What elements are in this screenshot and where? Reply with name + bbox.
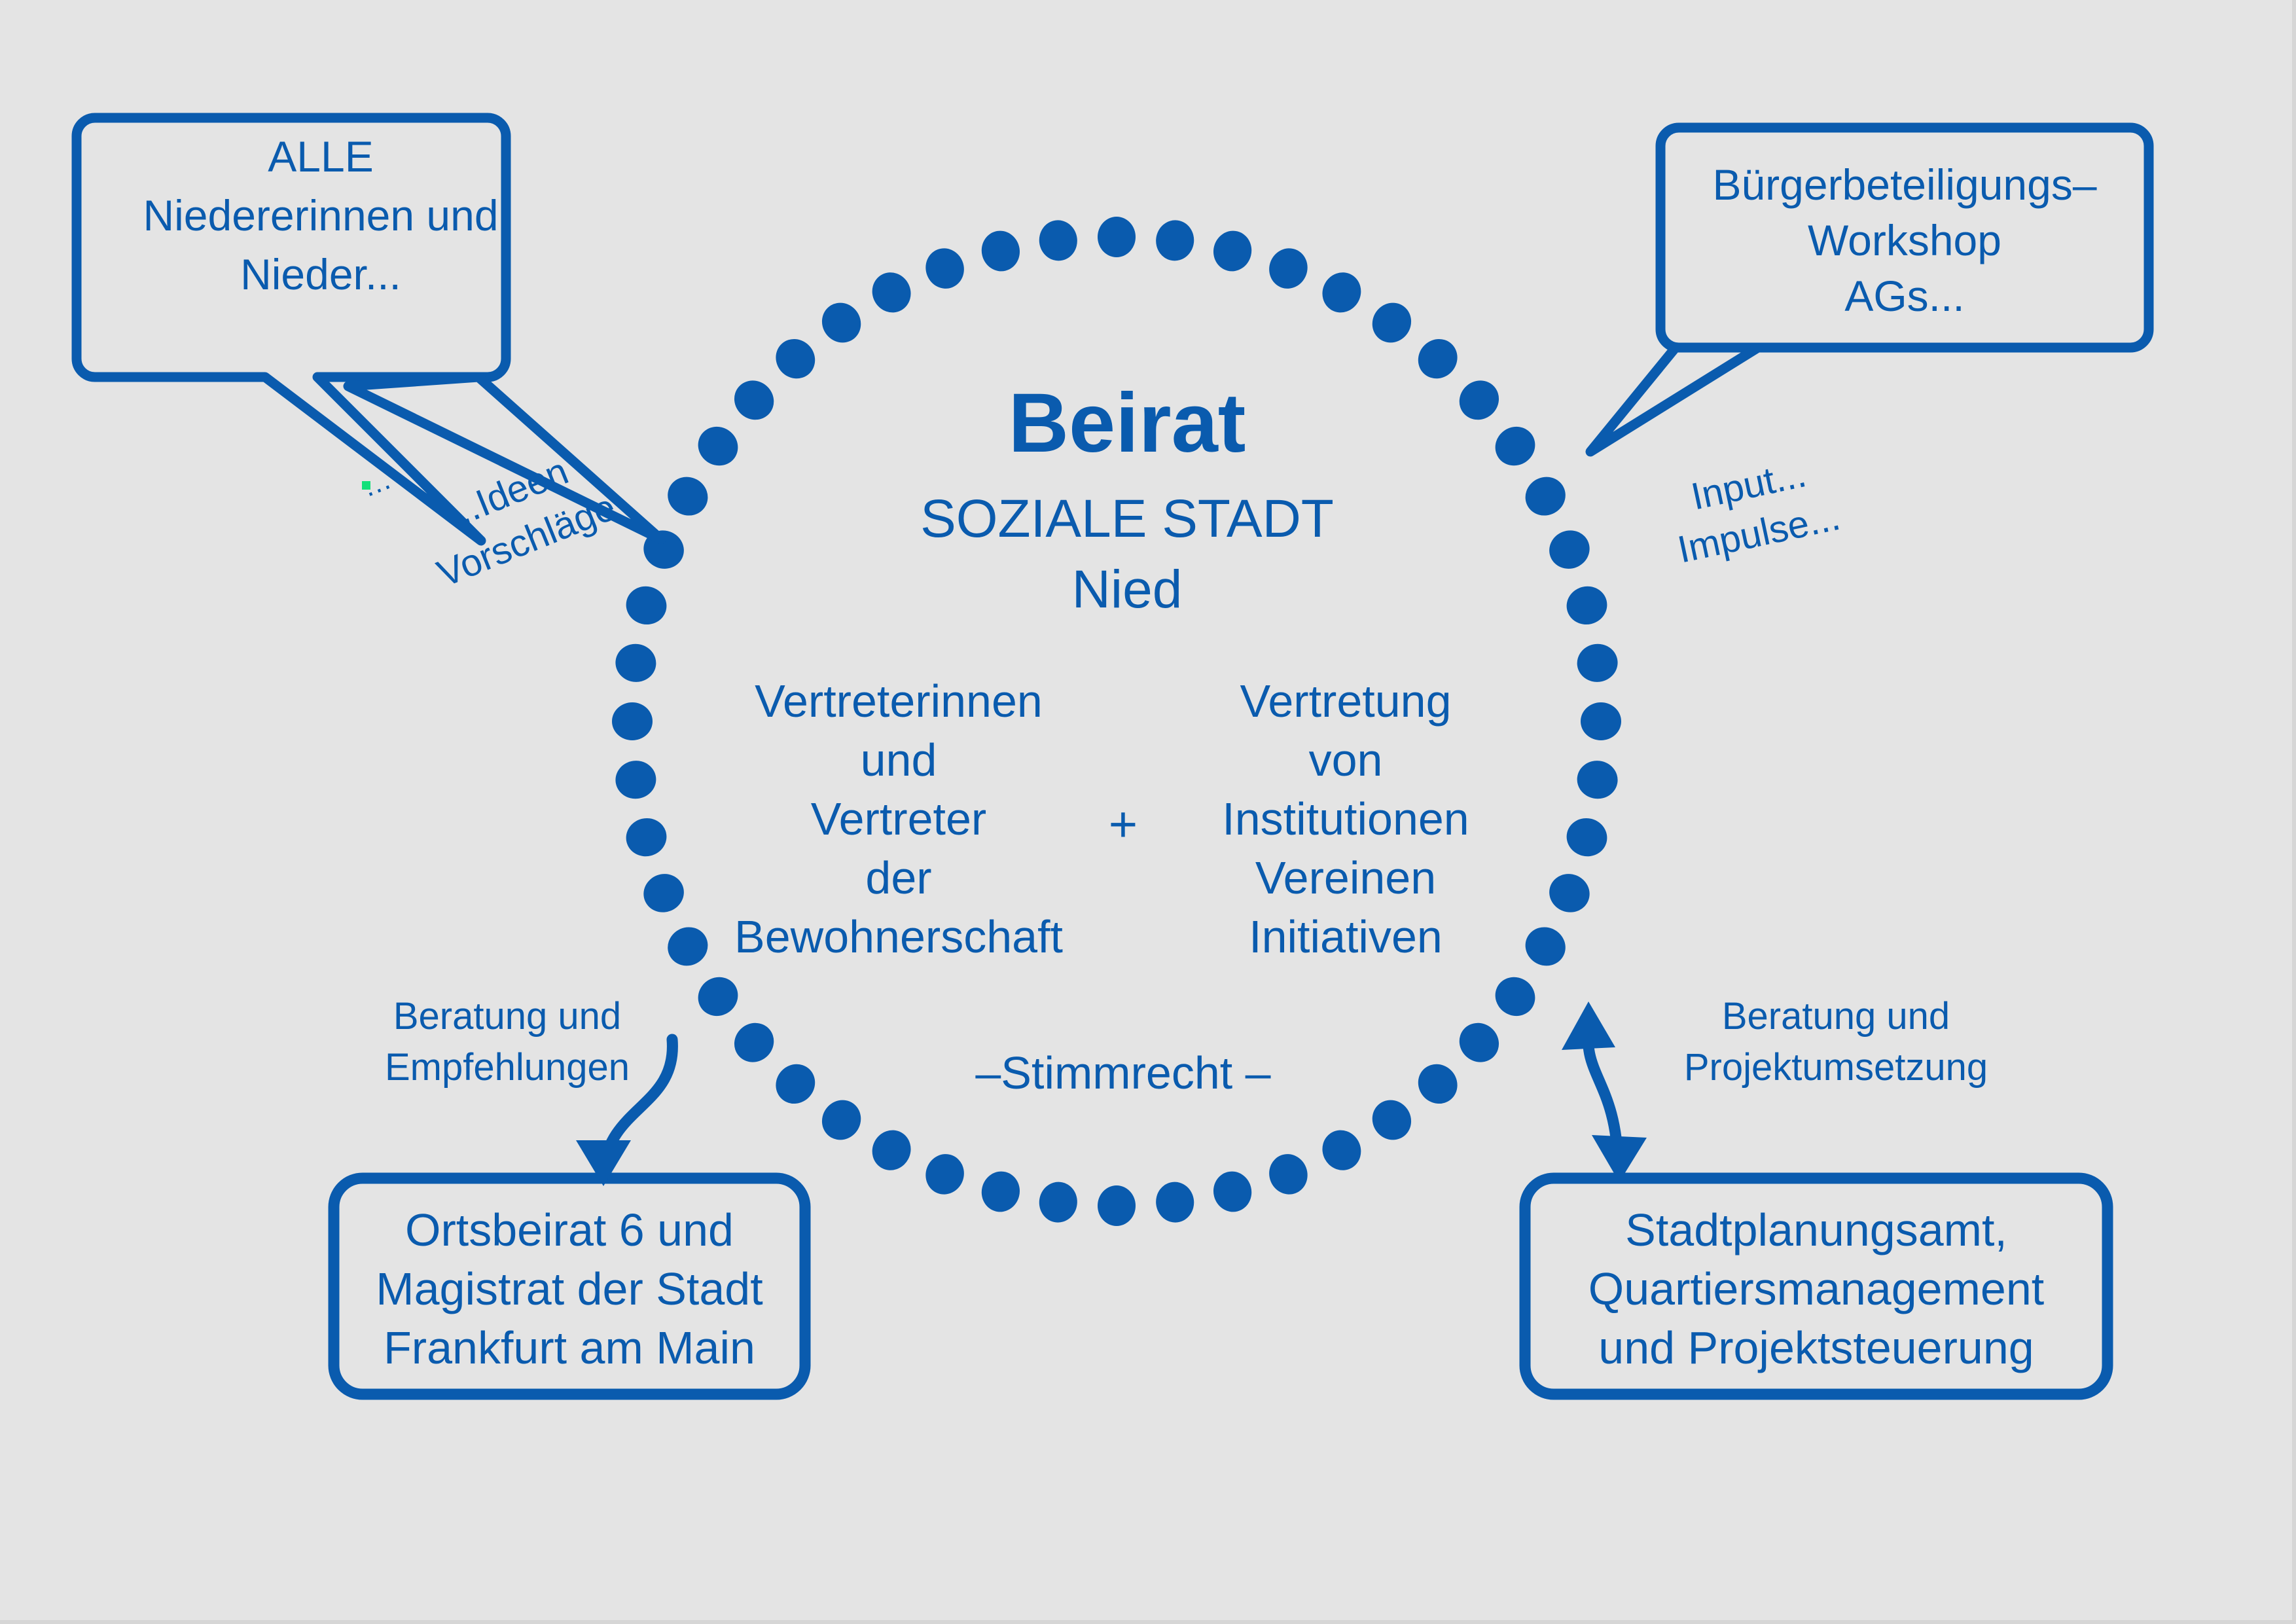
box-right-line-3: und Projektsteuerung [1598, 1322, 2034, 1373]
flow-label-right-diagonal: Input... Impulse... [1664, 447, 1844, 571]
bubble-right-line-2: Workshop [1808, 216, 2001, 264]
box-left-line-3: Frankfurt am Main [384, 1322, 755, 1373]
left-col-line-2: und [861, 734, 937, 785]
center-subtitle-1: SOZIALE STADT [920, 489, 1334, 549]
box-right-line-1: Stadtplanungsamt, [1625, 1204, 2007, 1255]
box-right-line-2: Quartiersmanagement [1588, 1263, 2044, 1314]
bubble-right-line-3: AGs... [1844, 272, 1964, 320]
plus-sign: + [1109, 797, 1138, 852]
flow-label-left-diagonal: ...Ideen Vorschläge [412, 438, 622, 595]
flow-bottom-right-line-2: Projektumsetzung [1684, 1046, 1988, 1089]
flow-bottom-left-line-2: Empfehlungen [385, 1046, 630, 1089]
diagram-text: ALLE Niedererinnen und Nieder... Bürgerb… [0, 0, 2296, 1624]
stimmrecht-label: –Stimmrecht – [975, 1047, 1270, 1098]
flow-bottom-left-line-1: Beratung und [393, 995, 621, 1038]
right-col-line-1: Vertretung [1240, 676, 1452, 727]
bubble-left-line-1: ALLE [268, 132, 373, 181]
left-col-line-4: der [865, 852, 931, 903]
right-col-line-5: Initiativen [1249, 911, 1443, 962]
diagram-canvas: ALLE Niedererinnen und Nieder... Bürgerb… [0, 0, 2296, 1624]
flow-bottom-right-line-1: Beratung und [1722, 995, 1950, 1038]
left-col-line-5: Bewohnerschaft [734, 911, 1063, 962]
bubble-right-line-1: Bürgerbeteiligungs– [1712, 160, 2096, 209]
flow-left-leader-dots: … [357, 463, 395, 503]
center-title: Beirat [1009, 376, 1246, 470]
center-subtitle-2: Nied [1072, 560, 1183, 619]
right-col-line-2: von [1309, 734, 1383, 785]
box-left-line-2: Magistrat der Stadt [376, 1263, 762, 1314]
right-col-line-3: Institutionen [1222, 793, 1469, 844]
box-left-line-1: Ortsbeirat 6 und [405, 1204, 734, 1255]
bubble-left-line-3: Nieder... [240, 250, 401, 298]
left-col-line-3: Vertreter [811, 793, 986, 844]
bubble-left-line-2: Niedererinnen und [143, 191, 498, 240]
left-col-line-1: Vertreterinnen [755, 676, 1043, 727]
right-col-line-4: Vereinen [1255, 852, 1436, 903]
